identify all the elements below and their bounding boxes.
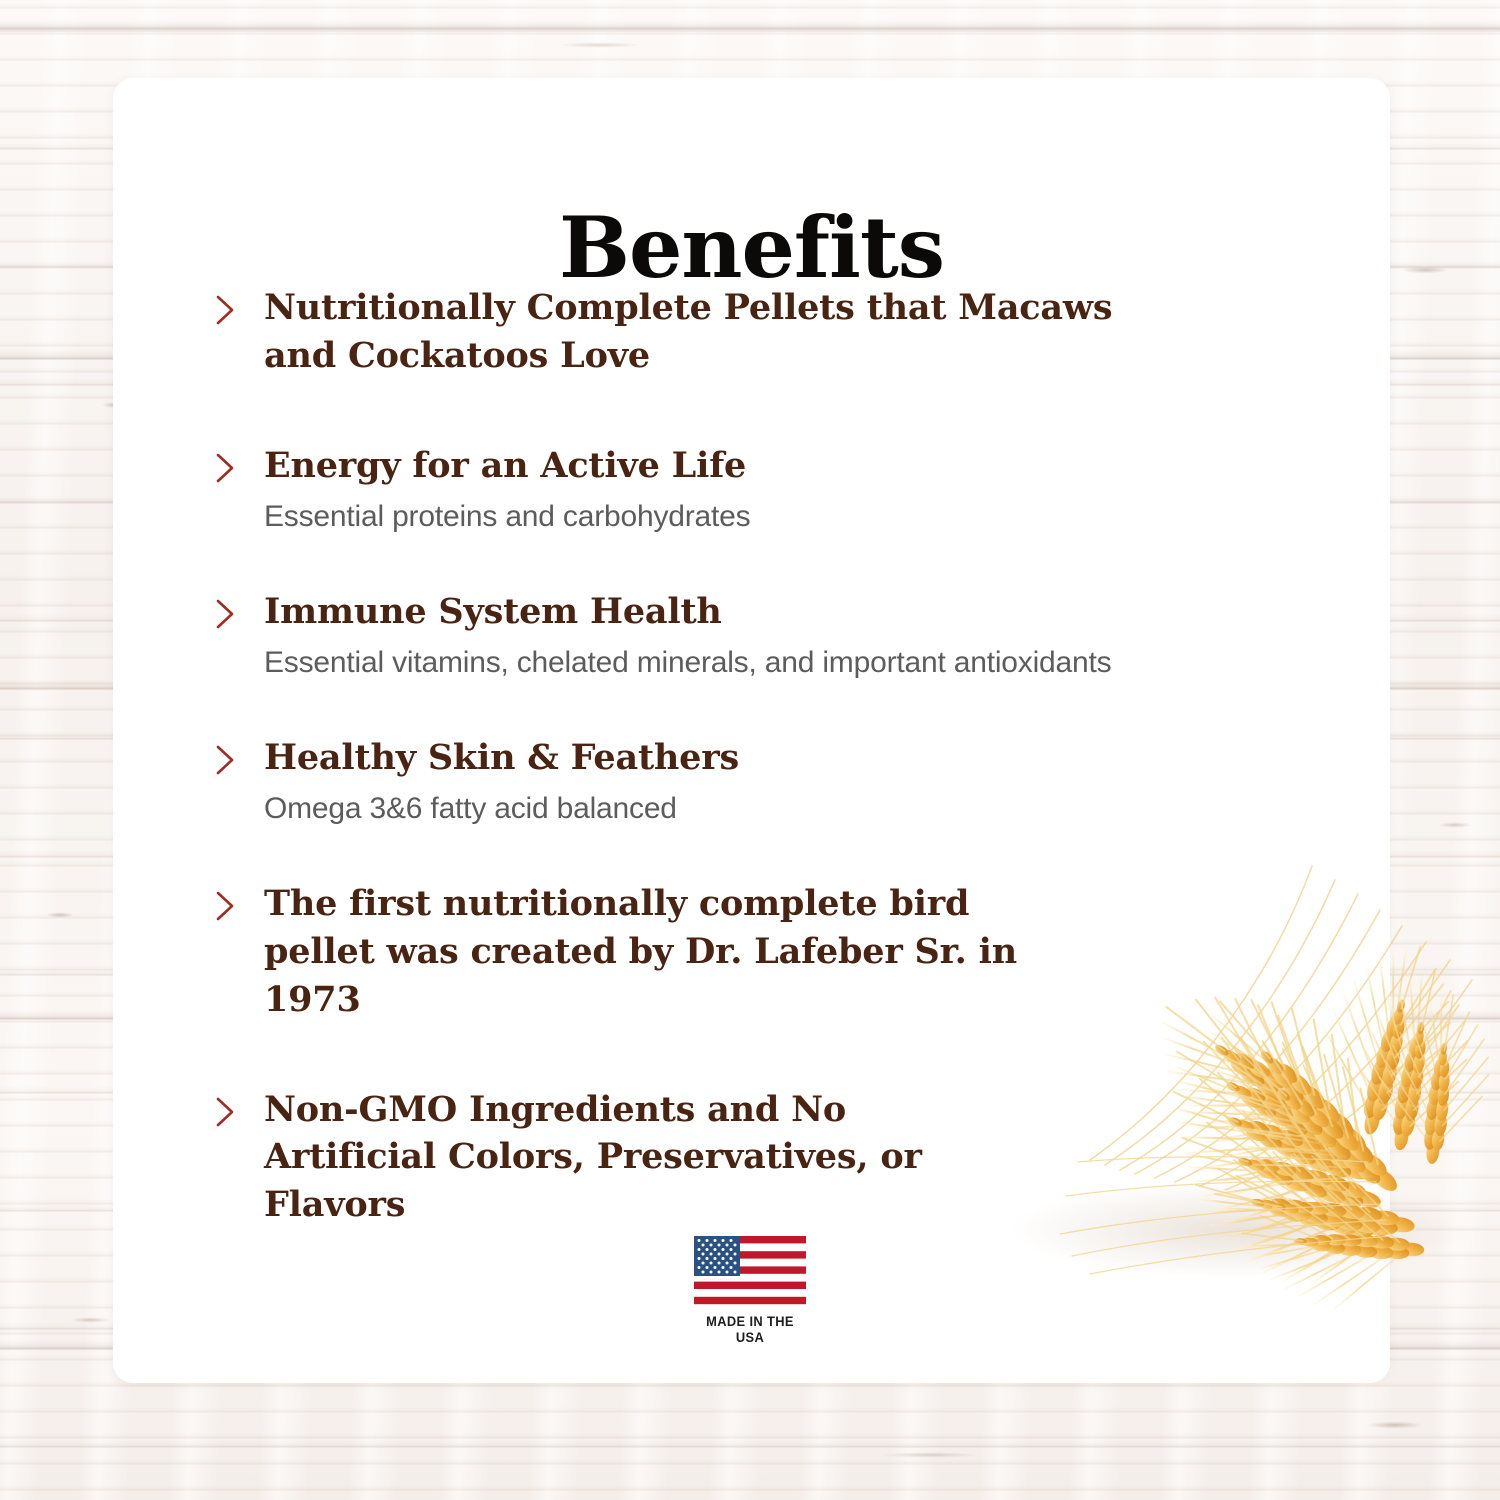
- page-title: Benefits: [113, 206, 1390, 290]
- chevron-right-icon: [212, 889, 240, 923]
- benefit-heading: Nutritionally Complete Pellets that Maca…: [264, 284, 1184, 380]
- list-item: Nutritionally Complete Pellets that Maca…: [212, 284, 1350, 380]
- chevron-right-icon: [212, 1095, 240, 1129]
- list-item: Non-GMO Ingredients and No Artificial Co…: [212, 1086, 1350, 1230]
- benefit-heading: Immune System Health: [264, 588, 1184, 636]
- benefit-subtext: Omega 3&6 fatty acid balanced: [264, 789, 1350, 828]
- chevron-right-icon: [212, 293, 240, 327]
- benefit-subtext: Essential vitamins, chelated minerals, a…: [264, 643, 1350, 682]
- benefit-heading: Healthy Skin & Feathers: [264, 734, 1184, 782]
- spacer: [212, 1024, 1350, 1086]
- chevron-right-icon: [212, 743, 240, 777]
- list-item: Energy for an Active Life Essential prot…: [212, 442, 1350, 536]
- chevron-right-icon: [212, 597, 240, 631]
- benefit-heading: Non-GMO Ingredients and No Artificial Co…: [264, 1086, 1024, 1230]
- spacer: [212, 380, 1350, 442]
- spacer: [212, 536, 1350, 588]
- list-item: Immune System Health Essential vitamins,…: [212, 588, 1350, 682]
- made-in-usa-label: MADE IN THE USA: [698, 1313, 801, 1345]
- made-in-usa-badge: MADE IN THE USA: [694, 1236, 806, 1345]
- benefits-list: Nutritionally Complete Pellets that Maca…: [212, 284, 1350, 1229]
- benefits-card: Benefits Nutritionally Complete Pellets …: [113, 78, 1390, 1383]
- spacer: [212, 682, 1350, 734]
- benefit-heading: The first nutritionally complete bird pe…: [264, 880, 1064, 1024]
- benefit-subtext: Essential proteins and carbohydrates: [264, 497, 1350, 536]
- spacer: [212, 828, 1350, 880]
- benefit-heading: Energy for an Active Life: [264, 442, 1184, 490]
- chevron-right-icon: [212, 451, 240, 485]
- list-item: The first nutritionally complete bird pe…: [212, 880, 1350, 1024]
- us-flag-icon: [694, 1236, 806, 1308]
- list-item: Healthy Skin & Feathers Omega 3&6 fatty …: [212, 734, 1350, 828]
- screenshot-root: Benefits Nutritionally Complete Pellets …: [0, 0, 1500, 1500]
